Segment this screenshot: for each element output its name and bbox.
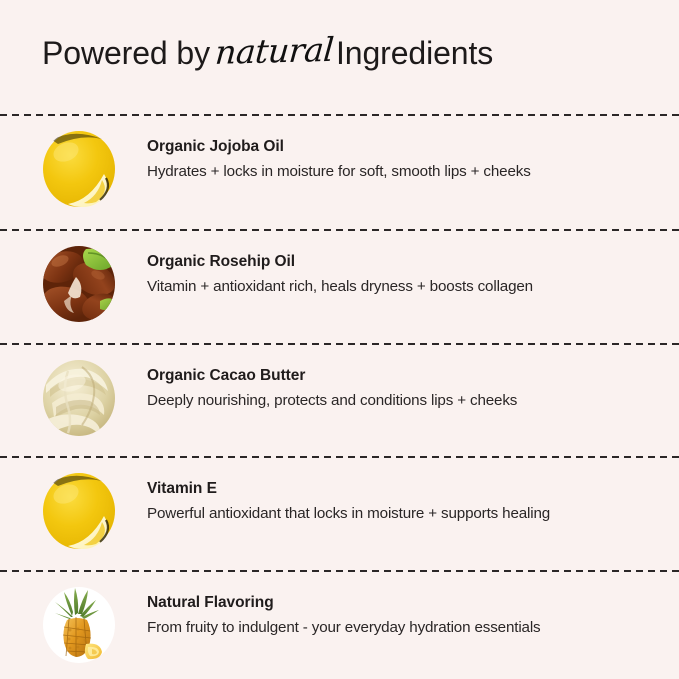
ingredient-description: Deeply nourishing, protects and conditio…	[147, 392, 667, 410]
ingredient-title: Organic Cacao Butter	[147, 367, 667, 385]
ingredient-text-rosehip-oil: Organic Rosehip Oil Vitamin + antioxidan…	[147, 253, 667, 296]
ingredient-title: Organic Rosehip Oil	[147, 253, 667, 271]
ingredient-row-vitamin-e: Vitamin E Powerful antioxidant that lock…	[0, 458, 679, 566]
ingredient-description: Vitamin + antioxidant rich, heals drynes…	[147, 278, 667, 296]
ingredient-title: Natural Flavoring	[147, 594, 667, 612]
page-title-script-natural: natural	[210, 33, 339, 69]
ingredient-text-natural-flavoring: Natural Flavoring From fruity to indulge…	[147, 594, 667, 637]
page-title: Powered by natural Ingredients	[42, 36, 493, 88]
ingredient-row-natural-flavoring: Natural Flavoring From fruity to indulge…	[0, 572, 679, 679]
ingredient-title: Organic Jojoba Oil	[147, 138, 667, 156]
page-title-after: Ingredients	[336, 37, 493, 69]
natural-flavoring-pineapple-icon	[42, 586, 116, 664]
ingredient-row-cacao-butter: Organic Cacao Butter Deeply nourishing, …	[0, 345, 679, 453]
rosehip-oil-pods-icon	[42, 245, 116, 323]
ingredient-description: From fruity to indulgent - your everyday…	[147, 619, 667, 637]
ingredient-description: Hydrates + locks in moisture for soft, s…	[147, 163, 667, 181]
vitamin-e-drop-icon	[42, 472, 116, 550]
cacao-butter-swirl-icon	[42, 359, 116, 437]
ingredient-row-jojoba-oil: Organic Jojoba Oil Hydrates + locks in m…	[0, 116, 679, 224]
ingredient-row-rosehip-oil: Organic Rosehip Oil Vitamin + antioxidan…	[0, 231, 679, 339]
ingredients-panel: Powered by natural Ingredients	[0, 0, 679, 679]
ingredient-description: Powerful antioxidant that locks in moist…	[147, 505, 667, 523]
ingredient-text-vitamin-e: Vitamin E Powerful antioxidant that lock…	[147, 480, 667, 523]
ingredient-title: Vitamin E	[147, 480, 667, 498]
ingredient-text-cacao-butter: Organic Cacao Butter Deeply nourishing, …	[147, 367, 667, 410]
page-title-before: Powered by	[42, 37, 210, 69]
jojoba-oil-drop-icon	[42, 130, 116, 208]
ingredient-text-jojoba-oil: Organic Jojoba Oil Hydrates + locks in m…	[147, 138, 667, 181]
